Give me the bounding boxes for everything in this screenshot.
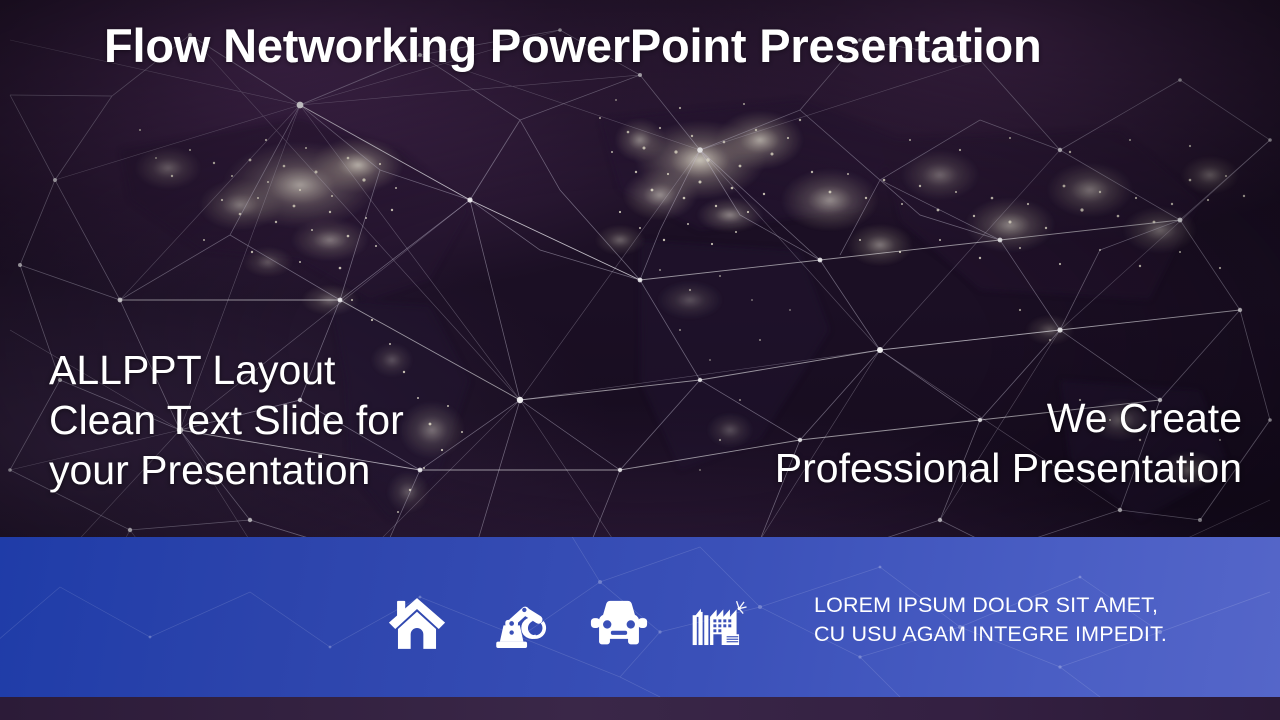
footer-caption-line-2: CU USU AGAM INTEGRE IMPEDIT. — [814, 620, 1167, 649]
page-title: Flow Networking PowerPoint Presentation — [104, 18, 1042, 73]
right-text-block: We Create Professional Presentation — [602, 393, 1242, 493]
house-icon[interactable] — [388, 594, 446, 652]
robot-arm-icon[interactable] — [489, 594, 547, 652]
footer-caption: LOREM IPSUM DOLOR SIT AMET, CU USU AGAM … — [814, 591, 1167, 649]
right-text-line-2: Professional Presentation — [602, 443, 1242, 493]
left-text-line-2: Clean Text Slide for — [49, 395, 479, 445]
right-text-line-1: We Create — [602, 393, 1242, 443]
left-text-line-1: ALLPPT Layout — [49, 345, 479, 395]
left-text-block: ALLPPT Layout Clean Text Slide for your … — [49, 345, 479, 495]
factory-icon[interactable] — [691, 594, 749, 652]
presentation-slide: Flow Networking PowerPoint Presentation … — [0, 0, 1280, 720]
left-text-line-3: your Presentation — [49, 445, 479, 495]
footer-strip — [0, 697, 1280, 720]
car-icon[interactable] — [590, 594, 648, 652]
footer-caption-line-1: LOREM IPSUM DOLOR SIT AMET, — [814, 591, 1167, 620]
footer-band: LOREM IPSUM DOLOR SIT AMET, CU USU AGAM … — [0, 537, 1280, 697]
footer-icon-row — [388, 594, 749, 652]
